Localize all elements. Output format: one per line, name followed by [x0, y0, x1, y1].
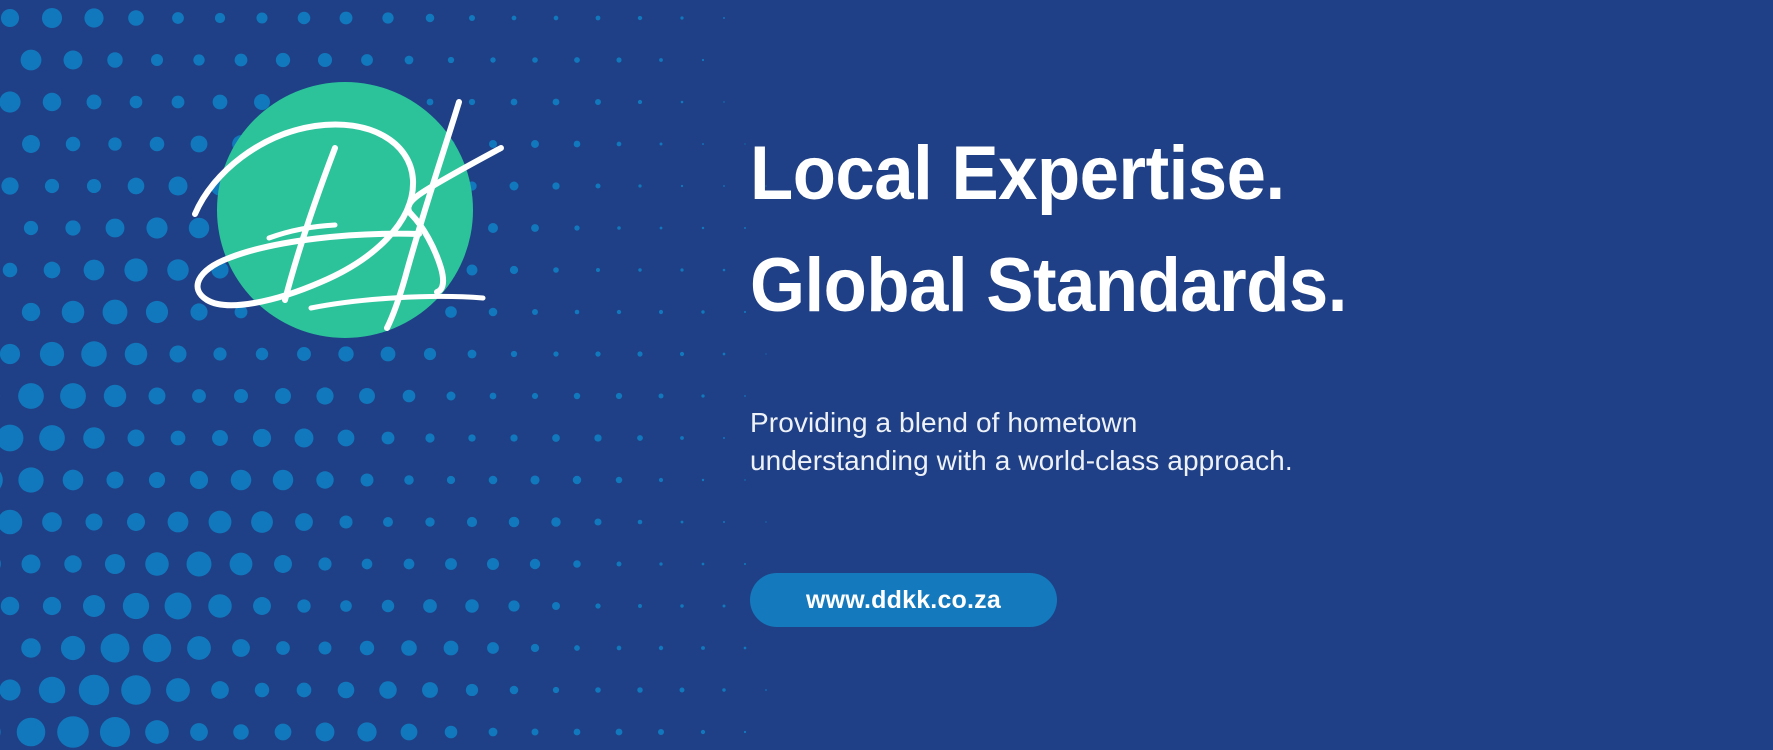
headline-line-2: Global Standards.: [750, 230, 1347, 342]
logo-circle-icon: [217, 82, 473, 338]
website-cta-button[interactable]: www.ddkk.co.za: [750, 573, 1057, 627]
subheading: Providing a blend of hometown understand…: [750, 404, 1293, 480]
subheading-line-2: understanding with a world-class approac…: [750, 442, 1293, 480]
copy-block: Local Expertise. Global Standards. Provi…: [750, 0, 1700, 750]
promotional-banner: Local Expertise. Global Standards. Provi…: [0, 0, 1773, 750]
dk-logo: [183, 62, 513, 362]
page-title: Local Expertise. Global Standards.: [750, 118, 1347, 342]
headline-line-1: Local Expertise.: [750, 118, 1347, 230]
subheading-line-1: Providing a blend of hometown: [750, 404, 1293, 442]
